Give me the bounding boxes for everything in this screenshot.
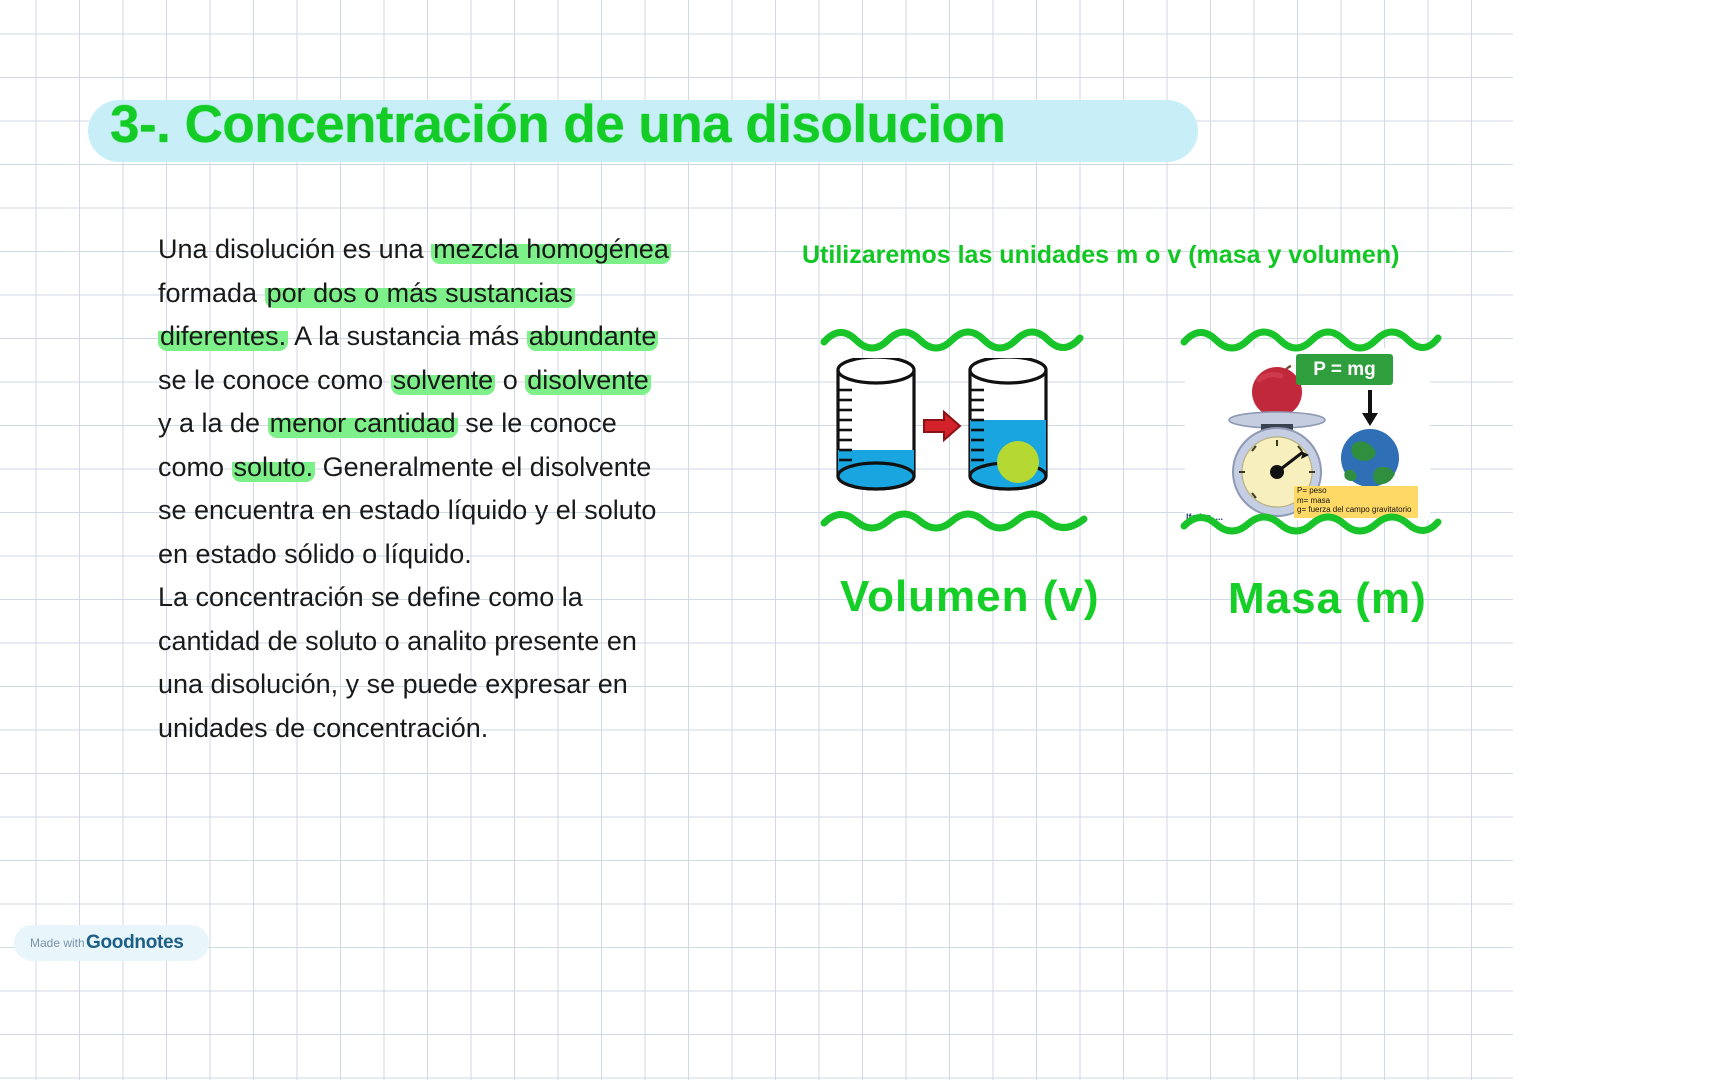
- beaker-right: [970, 358, 1046, 489]
- goodnotes-watermark: Made with Goodnotes: [14, 925, 209, 961]
- highlighted-text: mezcla homogénea: [431, 234, 671, 264]
- paragraph-line: formada por dos o más sustancias: [158, 272, 758, 316]
- plain-text: unidades de concentración.: [158, 713, 488, 743]
- plain-text: se encuentra en estado líquido y el solu…: [158, 495, 656, 525]
- paragraph-line: se encuentra en estado líquido y el solu…: [158, 489, 758, 533]
- volume-figure-illustration: [828, 358, 1078, 498]
- watermark-app-name: Goodnotes: [86, 932, 184, 954]
- squiggle-line-bottom-volume: [820, 505, 1092, 535]
- page-right-margin: [1513, 0, 1728, 1080]
- plain-text: La concentración se define como la: [158, 582, 583, 612]
- plain-text: cantidad de soluto o analito presente en: [158, 626, 637, 656]
- highlighted-text: por dos o más sustancias: [265, 278, 575, 308]
- transfer-arrow-icon: [924, 412, 960, 440]
- squiggle-line-top-mass: [1180, 322, 1442, 352]
- plain-text: una disolución, y se puede expresar en: [158, 669, 628, 699]
- page-title: 3-. Concentración de una disolucion: [110, 94, 1005, 155]
- plain-text: Una disolución es una: [158, 234, 431, 264]
- plain-text: en estado sólido o líquido.: [158, 539, 472, 569]
- highlighted-text: disolvente: [525, 365, 651, 395]
- right-column-heading: Utilizaremos las unidades m o v (masa y …: [802, 241, 1399, 270]
- legend-line-p: P= peso: [1294, 486, 1418, 496]
- paragraph-line: como soluto. Generalmente el disolvente: [158, 446, 758, 490]
- body-paragraph: Una disolución es una mezcla homogéneafo…: [158, 228, 758, 750]
- paragraph-line: una disolución, y se puede expresar en: [158, 663, 758, 707]
- paragraph-line: diferentes. A la sustancia más abundante: [158, 315, 758, 359]
- highlighted-text: abundante: [527, 321, 659, 351]
- paragraph-line: se le conoce como solvente o disolvente: [158, 359, 758, 403]
- solute-sphere: [997, 441, 1039, 483]
- plain-text: formada: [158, 278, 265, 308]
- page-title-row: 3-. Concentración de una disolucion: [88, 100, 1198, 162]
- formula-badge: P = mg: [1296, 354, 1393, 385]
- paragraph-line: Una disolución es una mezcla homogénea: [158, 228, 758, 272]
- plain-text: Generalmente el disolvente: [315, 452, 651, 482]
- formula-text: P = mg: [1296, 354, 1393, 385]
- beaker-left: [838, 358, 914, 489]
- paragraph-line: en estado sólido o líquido.: [158, 533, 758, 577]
- apple-icon: [1252, 366, 1302, 417]
- plain-text: o: [495, 365, 525, 395]
- squiggle-line-top-volume: [820, 322, 1086, 352]
- caption-volumen: Volumen (v): [840, 572, 1100, 622]
- watermark-made-with: Made with: [30, 936, 85, 950]
- highlighted-text: menor cantidad: [268, 408, 458, 438]
- squiggle-line-bottom-mass: [1180, 508, 1442, 538]
- plain-text: como: [158, 452, 232, 482]
- caption-masa: Masa (m): [1228, 574, 1427, 624]
- legend-line-m: m= masa: [1294, 496, 1418, 506]
- plain-text: A la sustancia más: [288, 321, 527, 351]
- earth-icon: [1341, 429, 1399, 487]
- highlighted-text: soluto.: [232, 452, 316, 482]
- paragraph-line: y a la de menor cantidad se le conoce: [158, 402, 758, 446]
- highlighted-text: solvente: [391, 365, 496, 395]
- plain-text: se le conoce como: [158, 365, 391, 395]
- plain-text: se le conoce: [458, 408, 617, 438]
- paragraph-line: La concentración se define como la: [158, 576, 758, 620]
- plain-text: y a la de: [158, 408, 268, 438]
- paragraph-line: cantidad de soluto o analito presente en: [158, 620, 758, 664]
- highlighted-text: diferentes.: [158, 321, 288, 351]
- paragraph-line: unidades de concentración.: [158, 707, 758, 751]
- gravity-arrow-icon: [1362, 390, 1378, 426]
